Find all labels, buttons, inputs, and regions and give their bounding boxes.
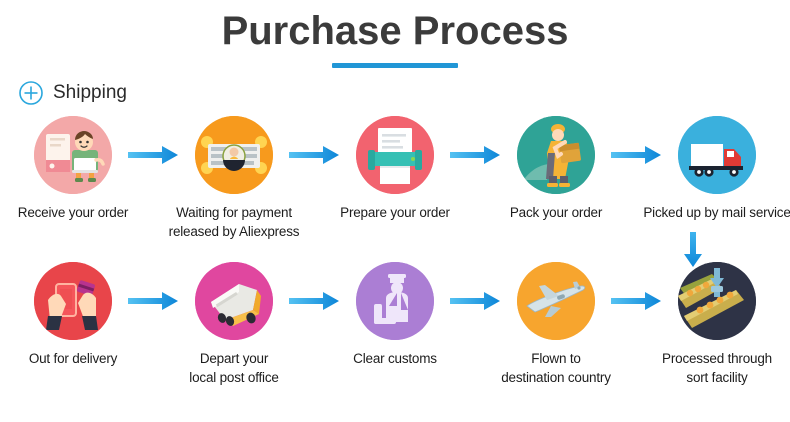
- printer-icon: [356, 116, 434, 194]
- step-icon-bubble: [34, 262, 112, 340]
- flow-arrow: [307, 262, 322, 340]
- step-label: Processed through sort facility: [641, 349, 790, 387]
- step-label: Pack your order: [480, 203, 632, 222]
- step-waiting-for-payment[interactable]: Waiting for payment released by Aliexpre…: [161, 116, 307, 241]
- conveyor-sorting-icon: [678, 262, 756, 340]
- page-title-block: Purchase Process: [0, 8, 790, 68]
- step-out-for-delivery[interactable]: Out for delivery: [0, 262, 146, 368]
- page-title: Purchase Process: [0, 8, 790, 54]
- worker-carrying-box-icon: [517, 116, 595, 194]
- step-icon-bubble: [34, 116, 112, 194]
- step-picked-up-by-mail-service[interactable]: Picked up by mail service: [644, 116, 790, 222]
- flow-arrow: [307, 116, 322, 194]
- flow-row-one: Receive your order: [0, 116, 790, 241]
- hands-phone-card-icon: [34, 262, 112, 340]
- step-icon-bubble: [678, 262, 756, 340]
- step-icon-bubble: [195, 116, 273, 194]
- flow-arrow: [146, 116, 161, 194]
- flow-arrow: [629, 116, 644, 194]
- step-flown-to-destination-country[interactable]: Flown to destination country: [483, 262, 629, 387]
- step-label: Clear customs: [319, 349, 471, 368]
- step-label: Depart your local post office: [158, 349, 310, 387]
- purchase-process-infographic: Purchase Process Shipping: [0, 0, 790, 422]
- step-processed-through-sort-facility[interactable]: Processed through sort facility: [644, 262, 790, 387]
- flow-arrow: [468, 116, 483, 194]
- flow-row-two: Out for delivery: [0, 262, 790, 387]
- step-depart-local-post-office[interactable]: Depart your local post office: [161, 262, 307, 387]
- step-icon-bubble: [517, 262, 595, 340]
- airplane-icon: [517, 262, 595, 340]
- step-label: Waiting for payment released by Aliexpre…: [158, 203, 310, 241]
- step-prepare-your-order[interactable]: Prepare your order: [322, 116, 468, 222]
- flow-arrow: [629, 262, 644, 340]
- flow-arrow: [146, 262, 161, 340]
- step-icon-bubble: [356, 262, 434, 340]
- step-clear-customs[interactable]: Clear customs: [322, 262, 468, 368]
- shipping-section-label: Shipping: [53, 80, 127, 106]
- step-receive-your-order[interactable]: Receive your order: [0, 116, 146, 222]
- shipping-section-header: Shipping: [18, 80, 127, 106]
- step-label: Flown to destination country: [480, 349, 632, 387]
- step-label: Picked up by mail service: [641, 203, 790, 222]
- step-label: Prepare your order: [319, 203, 471, 222]
- step-label: Out for delivery: [0, 349, 149, 368]
- step-icon-bubble: [678, 116, 756, 194]
- step-icon-bubble: [195, 262, 273, 340]
- step-pack-your-order[interactable]: Pack your order: [483, 116, 629, 222]
- flow-arrow: [468, 262, 483, 340]
- plus-circle-icon[interactable]: [18, 80, 44, 106]
- step-icon-bubble: [356, 116, 434, 194]
- delivery-truck-icon: [678, 116, 756, 194]
- step-icon-bubble: [517, 116, 595, 194]
- post-truck-icon: [195, 262, 273, 340]
- title-underline: [332, 63, 458, 68]
- person-at-laptop-icon: [34, 116, 112, 194]
- customs-officer-icon: [356, 262, 434, 340]
- step-label: Receive your order: [0, 203, 149, 222]
- banknote-coins-icon: [195, 116, 273, 194]
